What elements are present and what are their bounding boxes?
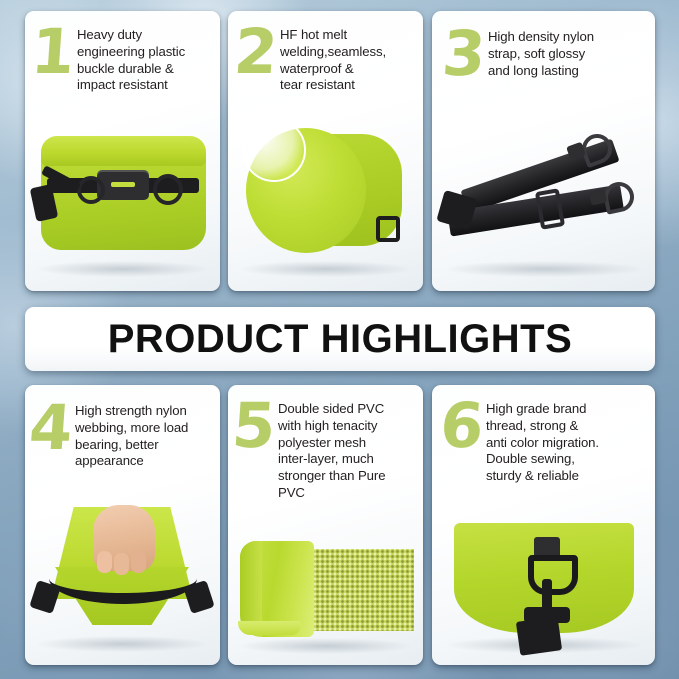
- buckle-right: [183, 580, 214, 614]
- buckle-highlight: [111, 182, 135, 187]
- feature-1-header: 1 Heavy duty engineering plastic buckle …: [25, 11, 220, 94]
- feature-text-1: Heavy duty engineering plastic buckle du…: [77, 23, 191, 94]
- bag-roll-top: [41, 136, 206, 166]
- d-ring: [528, 555, 578, 595]
- finger-3: [131, 551, 146, 573]
- feature-image-1: [25, 116, 220, 291]
- feature-number-1: 1: [27, 23, 79, 80]
- feature-image-5: [228, 525, 423, 665]
- d-ring-right: [153, 174, 183, 205]
- feature-number-6: 6: [436, 397, 488, 454]
- d-ring-left: [77, 176, 105, 204]
- pvc-roll-lip: [238, 621, 300, 635]
- feature-number-5: 5: [228, 397, 280, 454]
- feature-image-3: [432, 116, 655, 291]
- feature-panel-5: 5 Double sided PVC with high tenacity po…: [228, 385, 423, 665]
- feature-6-header: 6 High grade brand thread, strong & anti…: [432, 385, 655, 485]
- pvc-mesh-sheet: [310, 549, 414, 631]
- feature-text-5: Double sided PVC with high tenacity poly…: [278, 397, 391, 502]
- feature-number-2: 2: [230, 23, 282, 80]
- feature-image-6: [432, 515, 655, 665]
- feature-5-header: 5 Double sided PVC with high tenacity po…: [228, 385, 423, 502]
- product-highlights-infographic: 1 Heavy duty engineering plastic buckle …: [0, 0, 679, 679]
- snap-hook-bottom: [601, 179, 637, 215]
- webbing-tail: [516, 616, 562, 656]
- feature-text-4: High strength nylon webbing, more load b…: [75, 399, 194, 470]
- banner-title: PRODUCT HIGHLIGHTS: [108, 317, 573, 362]
- feature-text-2: HF hot melt welding,seamless, waterproof…: [280, 23, 392, 94]
- product-highlights-banner: PRODUCT HIGHLIGHTS: [25, 307, 655, 371]
- feature-panel-4: 4 High strength nylon webbing, more load…: [25, 385, 220, 665]
- feature-text-3: High density nylon strap, soft glossy an…: [488, 25, 600, 79]
- d-ring-tab: [376, 216, 400, 242]
- buckle-left: [29, 580, 60, 614]
- finger-1: [97, 551, 112, 573]
- feature-3-header: 3 High density nylon strap, soft glossy …: [432, 11, 655, 82]
- finger-2: [114, 553, 129, 575]
- magnifier-callout: [242, 118, 306, 182]
- feature-panel-3: 3 High density nylon strap, soft glossy …: [432, 11, 655, 291]
- feature-4-header: 4 High strength nylon webbing, more load…: [25, 385, 220, 470]
- feature-number-4: 4: [25, 399, 77, 456]
- feature-panel-1: 1 Heavy duty engineering plastic buckle …: [25, 11, 220, 291]
- feature-number-3: 3: [438, 25, 490, 82]
- feature-panel-6: 6 High grade brand thread, strong & anti…: [432, 385, 655, 665]
- feature-image-2: [228, 116, 423, 291]
- feature-2-header: 2 HF hot melt welding,seamless, waterpro…: [228, 11, 423, 94]
- feature-panel-2: 2 HF hot melt welding,seamless, waterpro…: [228, 11, 423, 291]
- feature-text-6: High grade brand thread, strong & anti c…: [486, 397, 605, 485]
- feature-image-4: [25, 497, 220, 665]
